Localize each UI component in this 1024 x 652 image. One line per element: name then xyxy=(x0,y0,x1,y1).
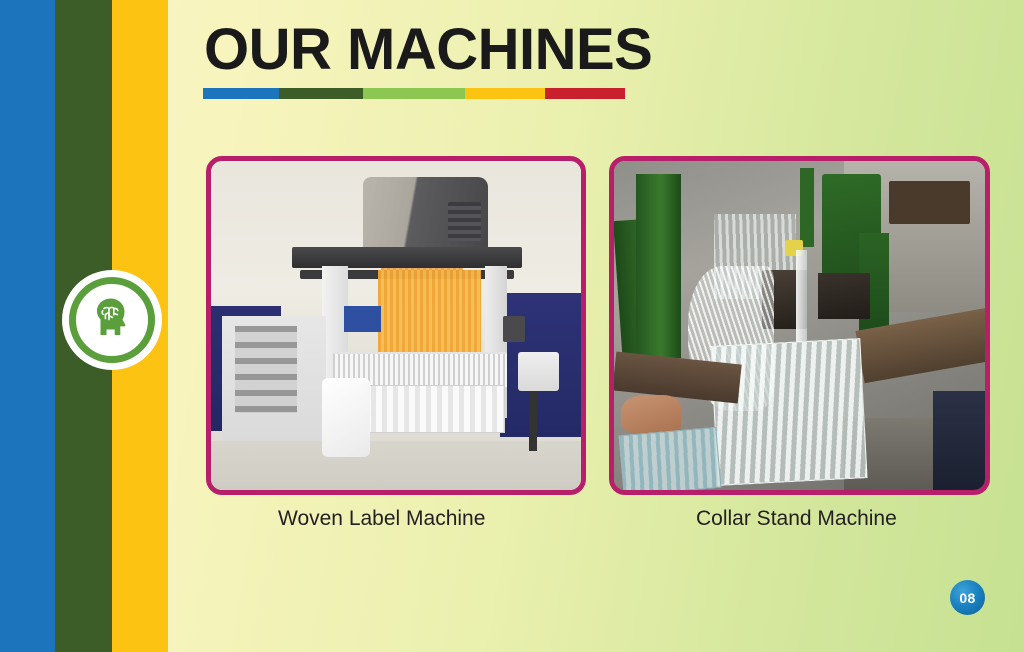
photo-collar-stand-machine[interactable] xyxy=(609,156,990,495)
segment-blue xyxy=(203,88,279,99)
logo-ring xyxy=(69,277,155,363)
segment-gold xyxy=(465,88,545,99)
slide: OUR MACHINES xyxy=(0,0,1024,652)
brain-head-logo xyxy=(62,270,162,370)
caption-woven-label-machine: Woven Label Machine xyxy=(278,507,485,531)
photo-woven-label-machine[interactable] xyxy=(206,156,586,495)
page-number-badge: 08 xyxy=(950,580,985,615)
title-underline-bar xyxy=(203,88,625,99)
segment-light-green xyxy=(363,88,464,99)
segment-red xyxy=(545,88,625,99)
photo-collar-stand-machine-image xyxy=(614,161,985,490)
photo-woven-label-machine-image xyxy=(211,161,581,490)
segment-dark-green xyxy=(279,88,363,99)
page-title: OUR MACHINES xyxy=(204,20,652,81)
brain-icon xyxy=(83,291,141,349)
caption-collar-stand-machine: Collar Stand Machine xyxy=(696,507,897,531)
blue-stripe xyxy=(0,0,55,652)
